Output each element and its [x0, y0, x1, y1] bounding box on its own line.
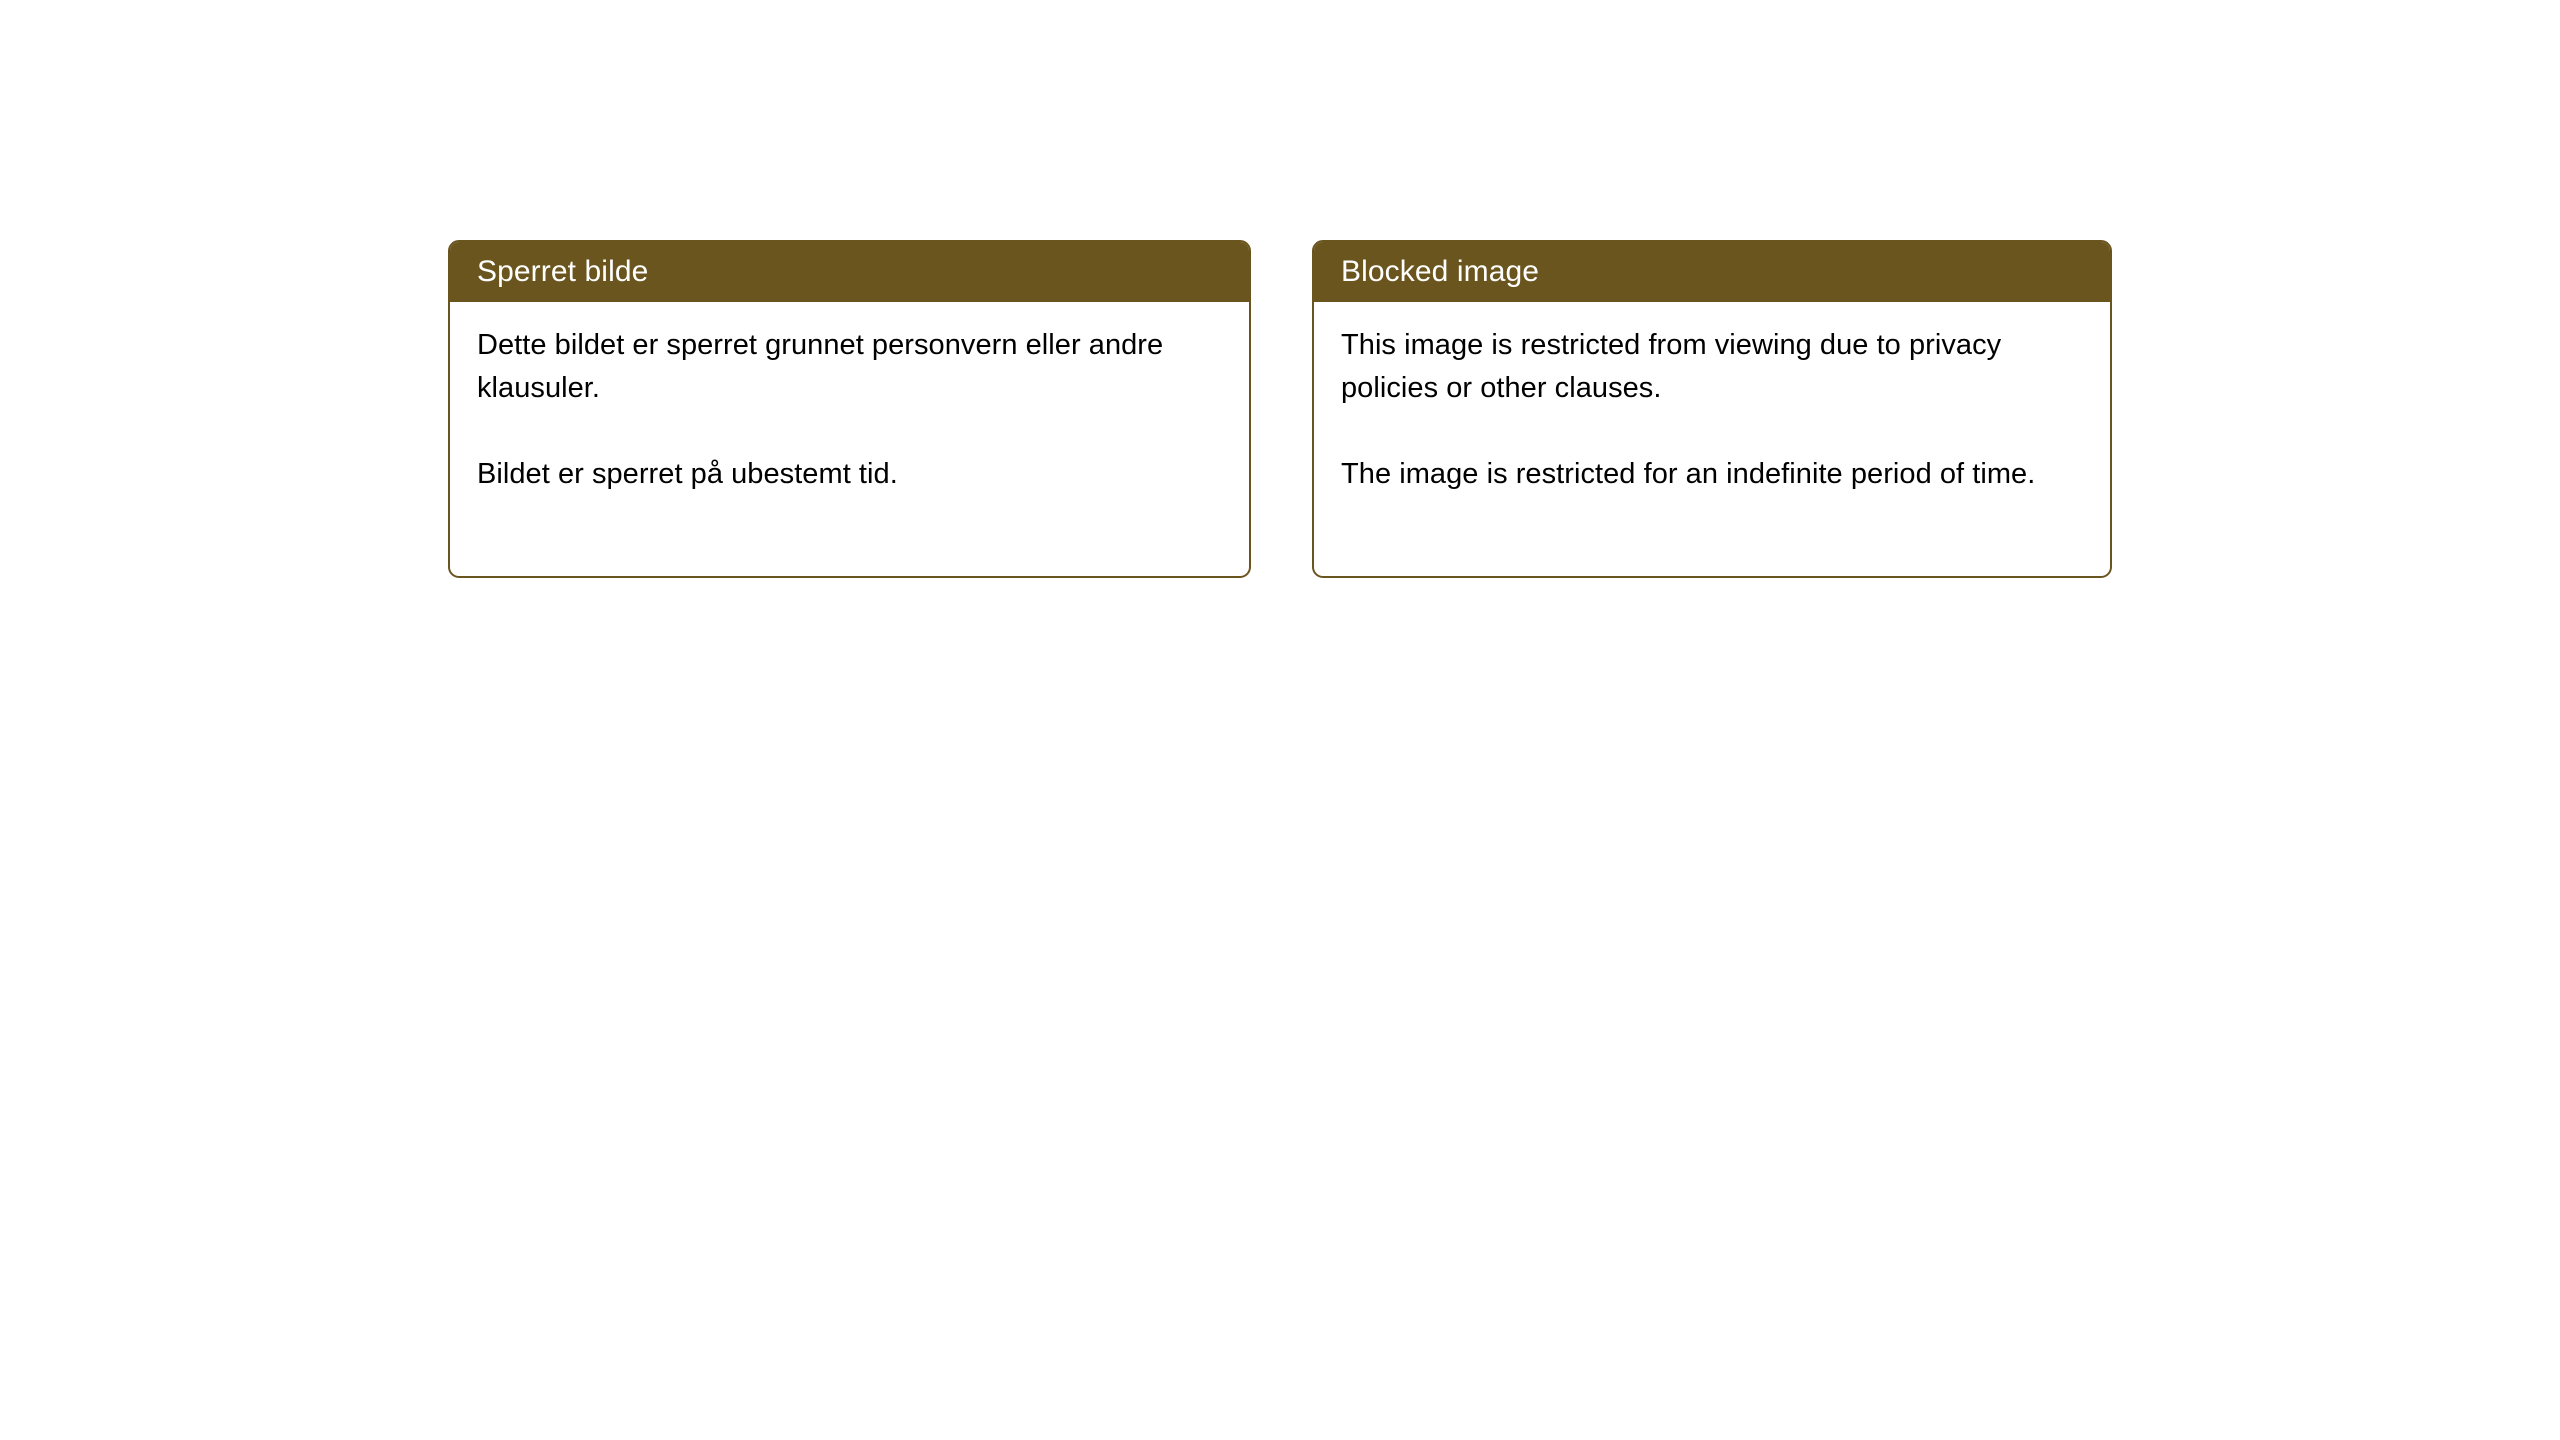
panel-title-english: Blocked image: [1341, 255, 1539, 289]
panel-body-norwegian: Dette bildet er sperret grunnet personve…: [450, 302, 1249, 496]
panel-body-english: This image is restricted from viewing du…: [1314, 302, 2110, 496]
panel-paragraph-reason-norwegian: Dette bildet er sperret grunnet personve…: [477, 324, 1231, 410]
blocked-image-panel-english: Blocked image This image is restricted f…: [1312, 240, 2112, 578]
panel-header-english: Blocked image: [1314, 242, 2110, 302]
panel-header-norwegian: Sperret bilde: [450, 242, 1249, 302]
page-canvas: Sperret bilde Dette bildet er sperret gr…: [0, 0, 2560, 1440]
panel-paragraph-reason-english: This image is restricted from viewing du…: [1341, 324, 2092, 410]
panel-paragraph-duration-english: The image is restricted for an indefinit…: [1341, 453, 2092, 496]
panel-title-norwegian: Sperret bilde: [477, 255, 648, 289]
blocked-image-panel-norwegian: Sperret bilde Dette bildet er sperret gr…: [448, 240, 1251, 578]
panel-paragraph-duration-norwegian: Bildet er sperret på ubestemt tid.: [477, 453, 1231, 496]
